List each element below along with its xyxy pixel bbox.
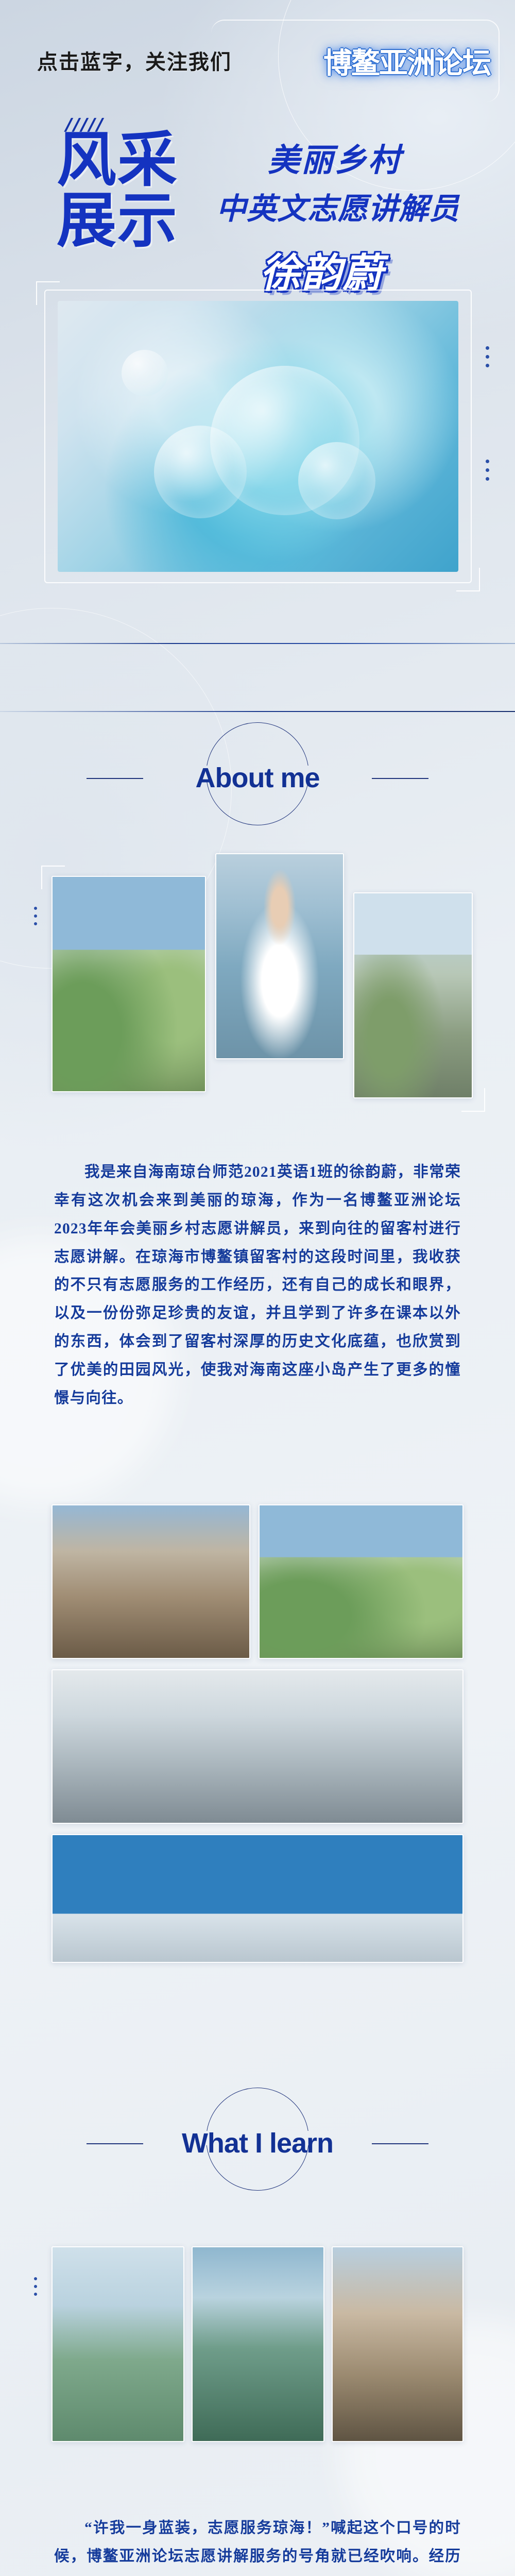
hero-photo-image: [58, 301, 458, 572]
photo-collage-about-top: [0, 845, 515, 1133]
photo-volunteer-portrait[interactable]: [215, 853, 344, 1059]
bubble-decoration: [154, 426, 247, 518]
article-page: 点击蓝字，关注我们 博鳌亚洲论坛 ///// 风采 展示 美丽乡村 中英文志愿讲…: [0, 0, 515, 2576]
photo-village-lane[interactable]: [51, 876, 206, 1092]
photo-village-street[interactable]: [353, 892, 473, 1098]
photo-exhibition-hall[interactable]: [51, 1669, 463, 1824]
follow-us-text[interactable]: 点击蓝字，关注我们: [37, 45, 232, 75]
bg-line-decoration: [0, 711, 515, 712]
bubble-decoration: [122, 350, 168, 396]
hero-title-line-2: 展示: [57, 191, 178, 251]
hero-subtitle-line-1: 美丽乡村: [268, 134, 402, 180]
dot-column-icon: [34, 2277, 37, 2300]
corner-tick-decoration: [41, 866, 65, 889]
what-i-learn-paragraph: “许我一身蓝装，志愿服务琼海！”喊起这个口号的时候，博鳌亚洲论坛志愿讲解服务的号…: [54, 2514, 461, 2576]
section-title: About me: [0, 764, 515, 793]
top-bar: 点击蓝字，关注我们 博鳌亚洲论坛: [0, 0, 515, 93]
photo-collage-learn: [0, 2231, 515, 2478]
section-heading-about-me: About me: [0, 737, 515, 845]
dot-column-icon: [34, 907, 37, 930]
about-me-paragraph: 我是来自海南琼台师范2021英语1班的徐韵蔚，非常荣幸有这次机会来到美丽的琼海，…: [54, 1158, 461, 1413]
section-title: What I learn: [0, 2129, 515, 2158]
dot-column-icon: [486, 346, 489, 367]
hero-title-block: ///// 风采 展示 美丽乡村 中英文志愿讲解员 徐韵蔚: [0, 93, 515, 278]
photo-collage-about-bottom: [0, 1494, 515, 1989]
photo-expo-banner[interactable]: [51, 1834, 463, 1963]
bg-line-decoration: [0, 643, 515, 644]
corner-tick-decoration: [461, 1088, 485, 1112]
hero-photo-frame: [44, 290, 472, 583]
hero-title: 风采 展示: [57, 130, 178, 252]
hero-title-line-1: 风采: [57, 130, 178, 191]
photo-boat[interactable]: [192, 2246, 324, 2442]
photo-bridge[interactable]: [51, 2246, 184, 2442]
brand-logo: 博鳌亚洲论坛: [323, 40, 490, 82]
photo-archway[interactable]: [51, 1504, 250, 1659]
photo-village-gate[interactable]: [332, 2246, 463, 2442]
photo-village-lane-2[interactable]: [259, 1504, 463, 1659]
section-heading-what-i-learn: What I learn: [0, 2102, 515, 2210]
bubble-decoration: [298, 442, 375, 519]
corner-tick-decoration: [36, 281, 60, 305]
corner-tick-decoration: [456, 568, 480, 591]
dot-column-icon: [486, 460, 489, 481]
hero-subtitle-line-2: 中英文志愿讲解员: [216, 184, 459, 228]
